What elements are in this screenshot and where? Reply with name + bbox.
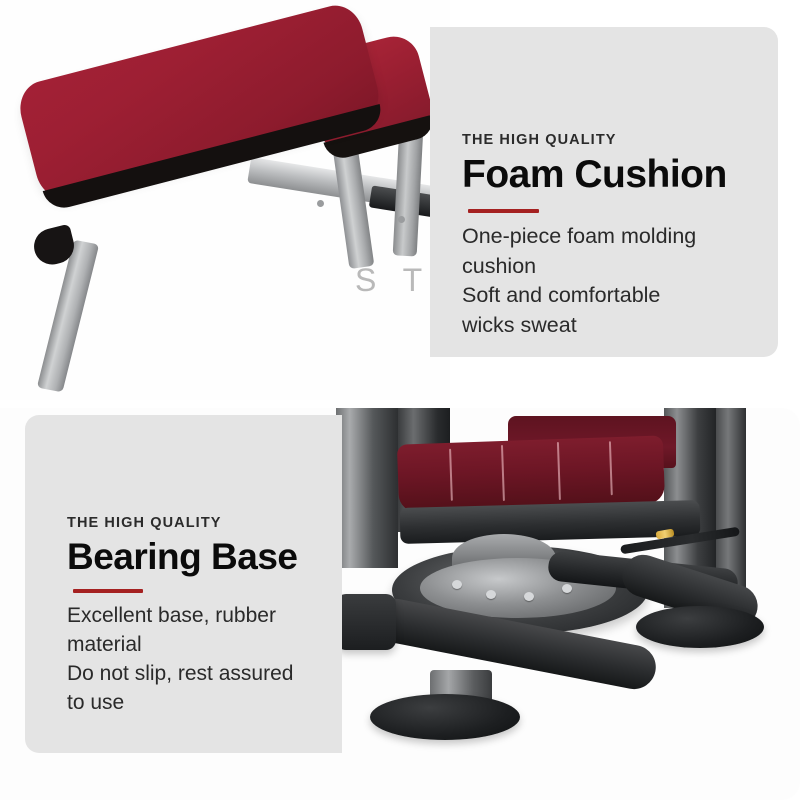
body-line: wicks sweat (462, 311, 770, 341)
accent-rule (73, 589, 143, 593)
hub-bolt-icon (562, 584, 572, 593)
bench-bolt-icon (317, 200, 324, 207)
body-line: cushion (462, 252, 770, 282)
rubber-foot-pad-left (370, 694, 520, 740)
product-feature-page: S T L F THE HIGH QUALITY Foam Cushion On… (0, 0, 800, 800)
rubber-foot-pad-right (636, 606, 764, 648)
body-line: Soft and comfortable (462, 281, 770, 311)
headline-foam-cushion: Foam Cushion (462, 154, 770, 196)
hub-bolt-icon (452, 580, 462, 589)
body-line: Excellent base, rubber (67, 602, 334, 631)
machine-pillar-left (336, 408, 398, 568)
bearing-base-text-card: THE HIGH QUALITY Bearing Base Excellent … (25, 415, 342, 753)
section-bearing-base: THE HIGH QUALITY Bearing Base Excellent … (0, 408, 800, 800)
seat-stitch-line (557, 442, 561, 500)
eyebrow-label: THE HIGH QUALITY (67, 515, 334, 531)
body-line: to use (67, 689, 334, 718)
seat-stitch-line (609, 441, 612, 495)
foam-cushion-text-card: THE HIGH QUALITY Foam Cushion One-piece … (430, 27, 778, 357)
section-foam-cushion: S T L F THE HIGH QUALITY Foam Cushion On… (0, 0, 800, 400)
seat-stitch-line (501, 445, 504, 501)
hub-bolt-icon (524, 592, 534, 601)
eyebrow-label: THE HIGH QUALITY (462, 132, 770, 148)
rubber-foot-pad-far-left (336, 594, 396, 650)
hub-bolt-icon (486, 590, 496, 599)
body-copy-foam-cushion: One-piece foam molding cushion Soft and … (462, 222, 770, 341)
bench-leg-rear-b (393, 127, 424, 256)
body-line: Do not slip, rest assured (67, 660, 334, 689)
headline-bearing-base: Bearing Base (67, 537, 334, 577)
seat-stitch-line (449, 449, 452, 501)
bench-bolt-icon (398, 216, 405, 223)
bench-product-photo (0, 0, 450, 400)
body-line: material (67, 631, 334, 660)
accent-rule (468, 209, 539, 213)
body-line: One-piece foam molding (462, 222, 770, 252)
body-copy-bearing-base: Excellent base, rubber material Do not s… (67, 602, 334, 718)
machine-cross-arm (400, 500, 701, 544)
